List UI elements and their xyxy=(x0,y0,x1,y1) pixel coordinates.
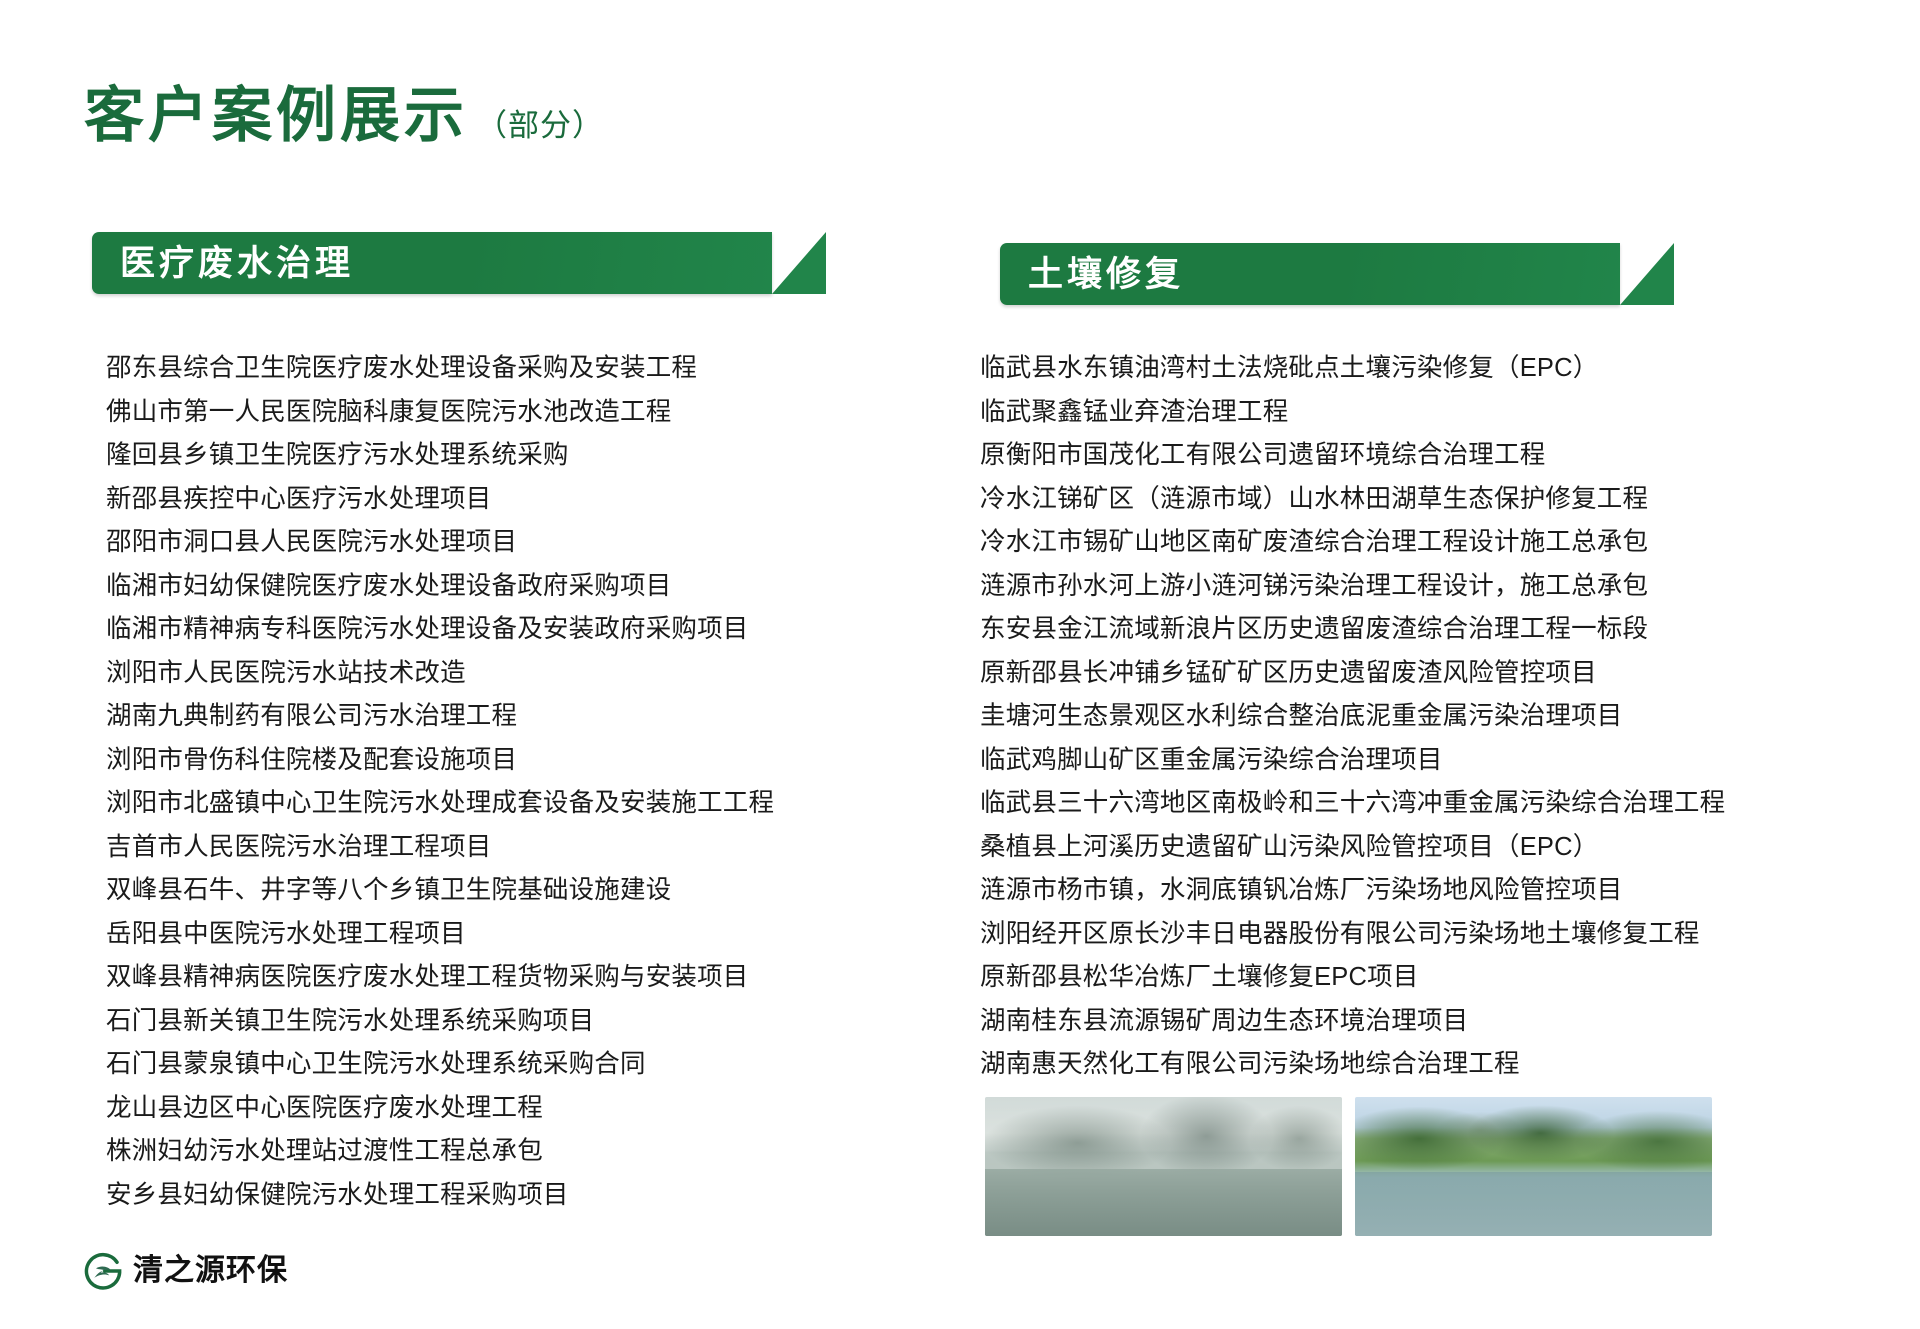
list-item: 双峰县精神病医院医疗废水处理工程货物采购与安装项目 xyxy=(106,956,906,1000)
list-item: 原衡阳市国茂化工有限公司遗留环境综合治理工程 xyxy=(980,434,1820,478)
list-item: 吉首市人民医院污水治理工程项目 xyxy=(106,826,906,870)
list-item: 湖南惠天然化工有限公司污染场地综合治理工程 xyxy=(980,1043,1820,1087)
list-item: 浏阳市北盛镇中心卫生院污水处理成套设备及安装施工工程 xyxy=(106,782,906,826)
list-item: 石门县新关镇卫生院污水处理系统采购项目 xyxy=(106,1000,906,1044)
list-item: 桑植县上河溪历史遗留矿山污染风险管控项目（EPC） xyxy=(980,826,1820,870)
list-item: 佛山市第一人民医院脑科康复医院污水池改造工程 xyxy=(106,391,906,435)
list-item: 浏阳经开区原长沙丰日电器股份有限公司污染场地土壤修复工程 xyxy=(980,913,1820,957)
list-item: 临湘市妇幼保健院医疗废水处理设备政府采购项目 xyxy=(106,565,906,609)
list-item: 临武县水东镇油湾村土法烧砒点土壤污染修复（EPC） xyxy=(980,347,1820,391)
list-item: 安乡县妇幼保健院污水处理工程采购项目 xyxy=(106,1174,906,1218)
list-item: 龙山县边区中心医院医疗废水处理工程 xyxy=(106,1087,906,1131)
section-banner-medical: 医疗废水治理 xyxy=(92,232,772,294)
section-banner-soil-label: 土壤修复 xyxy=(1000,257,1184,292)
list-item: 涟源市孙水河上游小涟河锑污染治理工程设计，施工总承包 xyxy=(980,565,1820,609)
page-title-main: 客户案例展示 xyxy=(84,86,468,146)
page-title: 客户案例展示 （部分） xyxy=(84,86,604,146)
list-item: 浏阳市人民医院污水站技术改造 xyxy=(106,652,906,696)
company-name: 清之源环保 xyxy=(133,1256,288,1286)
photo-landscape-misty-river-karst xyxy=(985,1097,1342,1236)
list-item: 岳阳县中医院污水处理工程项目 xyxy=(106,913,906,957)
list-item: 涟源市杨市镇，水洞底镇钒冶炼厂污染场地风险管控项目 xyxy=(980,869,1820,913)
footer-logo: 清之源环保 xyxy=(82,1250,288,1292)
list-item: 冷水江锑矿区（涟源市域）山水林田湖草生态保护修复工程 xyxy=(980,478,1820,522)
section-banner-medical-label: 医疗废水治理 xyxy=(92,246,354,281)
list-item: 邵东县综合卫生院医疗废水处理设备采购及安装工程 xyxy=(106,347,906,391)
list-item: 湖南桂东县流源锡矿周边生态环境治理项目 xyxy=(980,1000,1820,1044)
photo-landscape-green-hills-lake xyxy=(1355,1097,1712,1236)
case-list-medical: 邵东县综合卫生院医疗废水处理设备采购及安装工程 佛山市第一人民医院脑科康复医院污… xyxy=(106,347,906,1217)
list-item: 双峰县石牛、井字等八个乡镇卫生院基础设施建设 xyxy=(106,869,906,913)
list-item: 临武县三十六湾地区南极岭和三十六湾冲重金属污染综合治理工程 xyxy=(980,782,1820,826)
case-list-soil: 临武县水东镇油湾村土法烧砒点土壤污染修复（EPC） 临武聚鑫锰业弃渣治理工程 原… xyxy=(980,347,1820,1087)
list-item: 冷水江市锡矿山地区南矿废渣综合治理工程设计施工总承包 xyxy=(980,521,1820,565)
list-item: 临武聚鑫锰业弃渣治理工程 xyxy=(980,391,1820,435)
list-item: 浏阳市骨伤科住院楼及配套设施项目 xyxy=(106,739,906,783)
list-item: 湖南九典制药有限公司污水治理工程 xyxy=(106,695,906,739)
company-logo-icon xyxy=(82,1250,124,1292)
list-item: 邵阳市洞口县人民医院污水处理项目 xyxy=(106,521,906,565)
list-item: 原新邵县松华冶炼厂土壤修复EPC项目 xyxy=(980,956,1820,1000)
list-item: 石门县蒙泉镇中心卫生院污水处理系统采购合同 xyxy=(106,1043,906,1087)
list-item: 东安县金江流域新浪片区历史遗留废渣综合治理工程一标段 xyxy=(980,608,1820,652)
section-banner-soil: 土壤修复 xyxy=(1000,243,1620,305)
list-item: 圭塘河生态景观区水利综合整治底泥重金属污染治理项目 xyxy=(980,695,1820,739)
list-item: 株洲妇幼污水处理站过渡性工程总承包 xyxy=(106,1130,906,1174)
photo-gallery xyxy=(985,1097,1712,1236)
page-title-sub: （部分） xyxy=(476,100,604,145)
list-item: 临武鸡脚山矿区重金属污染综合治理项目 xyxy=(980,739,1820,783)
list-item: 隆回县乡镇卫生院医疗污水处理系统采购 xyxy=(106,434,906,478)
list-item: 临湘市精神病专科医院污水处理设备及安装政府采购项目 xyxy=(106,608,906,652)
list-item: 新邵县疾控中心医疗污水处理项目 xyxy=(106,478,906,522)
list-item: 原新邵县长冲铺乡锰矿矿区历史遗留废渣风险管控项目 xyxy=(980,652,1820,696)
